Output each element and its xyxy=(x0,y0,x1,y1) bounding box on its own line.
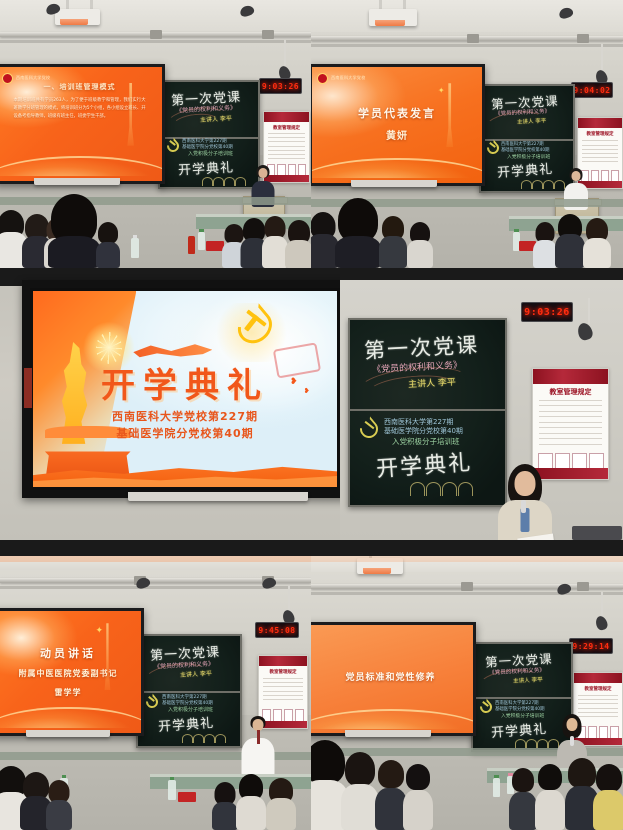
presenter-head xyxy=(259,168,268,178)
slide-logo: 西南医科大学党校 xyxy=(317,73,365,84)
projector xyxy=(369,9,417,26)
classroom-scene: 9:03:26 教室管理规定 xyxy=(0,0,311,268)
panel-top-right: 9:04:02 教室管理规定 第一次党课 《党员的权利和义务》 主讲人 李平 xyxy=(311,0,623,268)
party-emblem-chalk-icon xyxy=(146,696,158,708)
projector-lens xyxy=(363,568,392,574)
laptop xyxy=(572,526,622,540)
party-emblem-chalk-icon xyxy=(487,142,499,154)
panel-top-left: 9:03:26 教室管理规定 xyxy=(0,0,311,268)
panel-bottom-right: 9:29:14 教室管理规定 第一次党课 《党员的权利和义务》 主讲人 李平 xyxy=(311,556,623,830)
led-clock: 9:03:26 xyxy=(259,78,302,94)
audience-member xyxy=(555,214,585,268)
poster-header-band xyxy=(264,112,309,122)
slide-party-member-standards: 党员标准和党性修养 xyxy=(311,625,473,733)
projector-lens xyxy=(375,20,405,26)
audience-member xyxy=(403,764,433,830)
party-emblem-chalk-icon xyxy=(480,701,492,713)
screen-valance xyxy=(128,492,308,501)
screen-valance xyxy=(351,180,437,187)
led-clock: 9:45:08 xyxy=(255,622,299,638)
blackboard-surface: 第一次党课 《党员的权利和义务》 主讲人 李平 西南医科大学第227期 基础医学… xyxy=(481,86,573,191)
classroom-scene: ❥ ❥ 开学典礼 西南医科大学党校第227期 基础医学院分党校第40期 xyxy=(0,268,623,556)
panel-center: ❥ ❥ 开学典礼 西南医科大学党校第227期 基础医学院分党校第40期 xyxy=(0,268,623,556)
panel-seam-glow xyxy=(0,556,311,562)
led-clock: 9:29:14 xyxy=(569,638,613,654)
audience-member xyxy=(266,778,296,830)
classroom-scene: 9:29:14 教室管理规定 第一次党课 《党员的权利和义务》 主讲人 李平 xyxy=(311,556,623,830)
projection-screen: 西南医科大学党校 一、培训班管理模式 本期培训班共有学员263人，为了便于班级教… xyxy=(0,64,165,184)
blackboard-surface: 第一次党课 《党员的权利和义务》 主讲人 李平 西南医科大学第227期 基础医学… xyxy=(160,82,258,187)
panel-seam-glow xyxy=(311,556,623,562)
audience xyxy=(311,730,623,830)
projection-screen-surface: 西南医科大学党校 ✦ 学员代表发言 黄妍 xyxy=(312,67,482,183)
slide-opening-ceremony: ❥ ❥ 开学典礼 西南医科大学党校第227期 基础医学院分党校第40期 xyxy=(33,291,337,487)
blackboard-surface: 第一次党课 《党员的权利和义务》 主讲人 李平 西南医科大学第227期 基础医学… xyxy=(350,320,505,505)
audience-member xyxy=(285,220,311,268)
audience-member xyxy=(593,764,623,830)
projection-screen: 西南医科大学党校 ✦ 学员代表发言 黄妍 xyxy=(311,64,485,186)
classroom-scene: 9:45:08 教室管理规定 第一次党课 《党员的权利和义务》 主讲人 李平 xyxy=(0,556,311,830)
screen-valance xyxy=(26,730,110,737)
slide-mobilization-speech: ✦ 动员讲话 附属中医医院党委副书记 雷学学 xyxy=(0,611,141,733)
projector-lens xyxy=(60,19,88,25)
university-emblem-icon xyxy=(317,73,328,84)
blackboard: 第一次党课 《党员的权利和义务》 主讲人 李平 西南医科大学第227期 基础医学… xyxy=(348,318,507,507)
led-clock: 9:04:02 xyxy=(571,82,613,98)
screen-valance xyxy=(34,178,120,185)
led-clock: 9:03:26 xyxy=(521,302,573,322)
slide-student-representative: 西南医科大学党校 ✦ 学员代表发言 黄妍 xyxy=(312,67,482,183)
conduit-rail-secondary xyxy=(0,40,311,43)
party-emblem-chalk-icon xyxy=(360,420,378,438)
audience-member xyxy=(379,216,407,268)
panel-bottom-left: 9:45:08 教室管理规定 第一次党课 《党员的权利和义务》 主讲人 李平 xyxy=(0,556,311,830)
audience-member xyxy=(583,218,611,268)
audience-member xyxy=(212,782,238,830)
audience-member xyxy=(341,752,379,830)
wall-marker-strip xyxy=(24,368,32,408)
rail-junction-box xyxy=(262,30,274,39)
center-right-region: 9:03:26 教室管理规定 xyxy=(340,268,623,556)
rail-junction-box xyxy=(577,34,589,43)
projection-screen: 党员标准和党性修养 xyxy=(311,622,476,736)
ceiling xyxy=(0,0,311,32)
collage-bottom-gutter xyxy=(0,540,623,556)
projection-screen-surface: 党员标准和党性修养 xyxy=(311,625,473,733)
audience-member xyxy=(509,768,537,830)
blackboard: 第一次党课 《党员的权利和义务》 主讲人 李平 西南医科大学第227期 基础医学… xyxy=(136,634,242,748)
party-emblem-chalk-icon xyxy=(167,140,179,152)
conduit-rail-secondary xyxy=(311,44,623,47)
audience-member-foreground xyxy=(48,194,100,268)
party-emblem-icon xyxy=(237,311,273,342)
projection-screen-surface: ✦ 动员讲话 附属中医医院党委副书记 雷学学 xyxy=(0,611,141,733)
photo-collage: 9:03:26 教室管理规定 xyxy=(0,0,623,830)
audience-member-foreground xyxy=(335,198,381,268)
necktie xyxy=(257,730,260,744)
audience xyxy=(0,188,311,268)
projector xyxy=(55,9,100,25)
projection-screen-surface: 西南医科大学党校 一、培训班管理模式 本期培训班共有学员263人，为了便于班级教… xyxy=(0,67,162,181)
audience-member xyxy=(46,780,72,830)
large-screen-surface: ❥ ❥ 开学典礼 西南医科大学党校第227期 基础医学院分党校第40期 xyxy=(30,288,340,490)
audience xyxy=(0,748,311,830)
audience xyxy=(311,188,623,268)
audience-member xyxy=(533,222,557,268)
slide-training-management: 西南医科大学党校 一、培训班管理模式 本期培训班共有学员263人，为了便于班级教… xyxy=(0,67,162,181)
audience-member xyxy=(236,774,266,830)
large-projection-screen: ❥ ❥ 开学典礼 西南医科大学党校第227期 基础医学院分党校第40期 xyxy=(22,280,348,498)
projection-screen: ✦ 动员讲话 附属中医医院党委副书记 雷学学 xyxy=(0,608,144,736)
audience-member xyxy=(96,222,120,268)
microphone-icon xyxy=(521,500,526,513)
blackboard: 第一次党课 《党员的权利和义务》 主讲人 李平 西南医科大学第227期 基础医学… xyxy=(479,84,575,193)
audience-member xyxy=(535,764,565,830)
classroom-scene: 9:04:02 教室管理规定 第一次党课 《党员的权利和义务》 主讲人 李平 xyxy=(311,0,623,268)
rail-junction-box xyxy=(150,30,162,39)
blackboard: 第一次党课 《党员的权利和义务》 主讲人 李平 西南医科大学第227期 基础医学… xyxy=(158,80,260,189)
audience-member xyxy=(407,222,433,268)
blackboard-surface: 第一次党课 《党员的权利和义务》 主讲人 李平 西南医科大学第227期 基础医学… xyxy=(138,636,240,746)
rail-junction-box xyxy=(467,34,479,43)
